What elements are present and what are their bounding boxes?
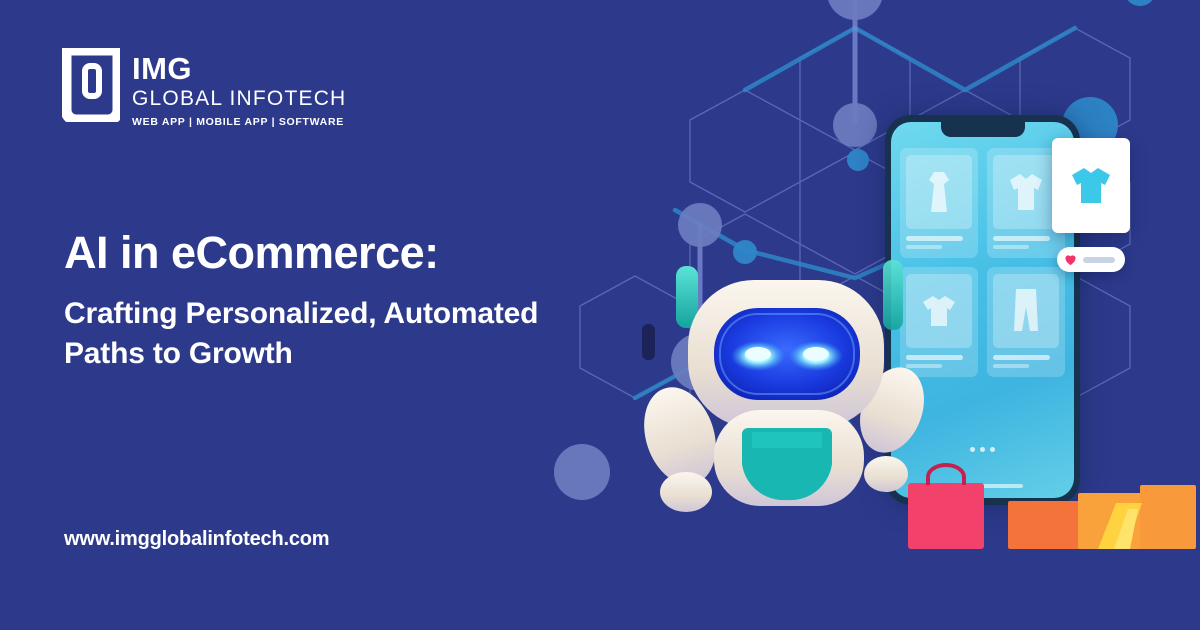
product-card[interactable]	[987, 267, 1065, 377]
card-price-line	[993, 245, 1029, 249]
logo-line-1: IMG	[132, 53, 346, 84]
hero-illustration	[620, 90, 1200, 560]
dress-icon	[906, 155, 972, 229]
card-price-line	[906, 245, 942, 249]
floating-product-card[interactable]	[1052, 138, 1130, 233]
brand-logo[interactable]: IMG GLOBAL INFOTECH WEB APP | MOBILE APP…	[62, 48, 346, 129]
card-price-line	[993, 364, 1029, 368]
logo-mark-icon	[62, 48, 120, 122]
headline-block: AI in eCommerce: Crafting Personalized, …	[64, 228, 624, 374]
page-title: AI in eCommerce:	[64, 228, 624, 278]
logo-wordmark: IMG GLOBAL INFOTECH WEB APP | MOBILE APP…	[132, 48, 346, 129]
page-subtitle: Crafting Personalized, Automated Paths t…	[64, 294, 564, 374]
banner-canvas: IMG GLOBAL INFOTECH WEB APP | MOBILE APP…	[0, 0, 1200, 630]
shirt-icon	[993, 155, 1059, 229]
shopping-bags	[900, 445, 1200, 550]
trousers-icon	[993, 274, 1059, 348]
favorite-badge[interactable]	[1057, 247, 1125, 272]
website-url[interactable]: www.imgglobalinfotech.com	[64, 528, 329, 551]
logo-line-2: GLOBAL INFOTECH	[132, 86, 346, 112]
card-title-line	[993, 355, 1050, 360]
product-card[interactable]	[900, 148, 978, 258]
ai-robot-mascot	[640, 260, 940, 520]
tshirt-icon	[1068, 164, 1114, 208]
phone-notch	[941, 122, 1025, 137]
card-title-line	[993, 236, 1050, 241]
logo-tagline: WEB APP | MOBILE APP | SOFTWARE	[132, 116, 346, 129]
card-title-line	[906, 236, 963, 241]
badge-label-line	[1083, 257, 1115, 263]
heart-icon	[1063, 252, 1078, 267]
